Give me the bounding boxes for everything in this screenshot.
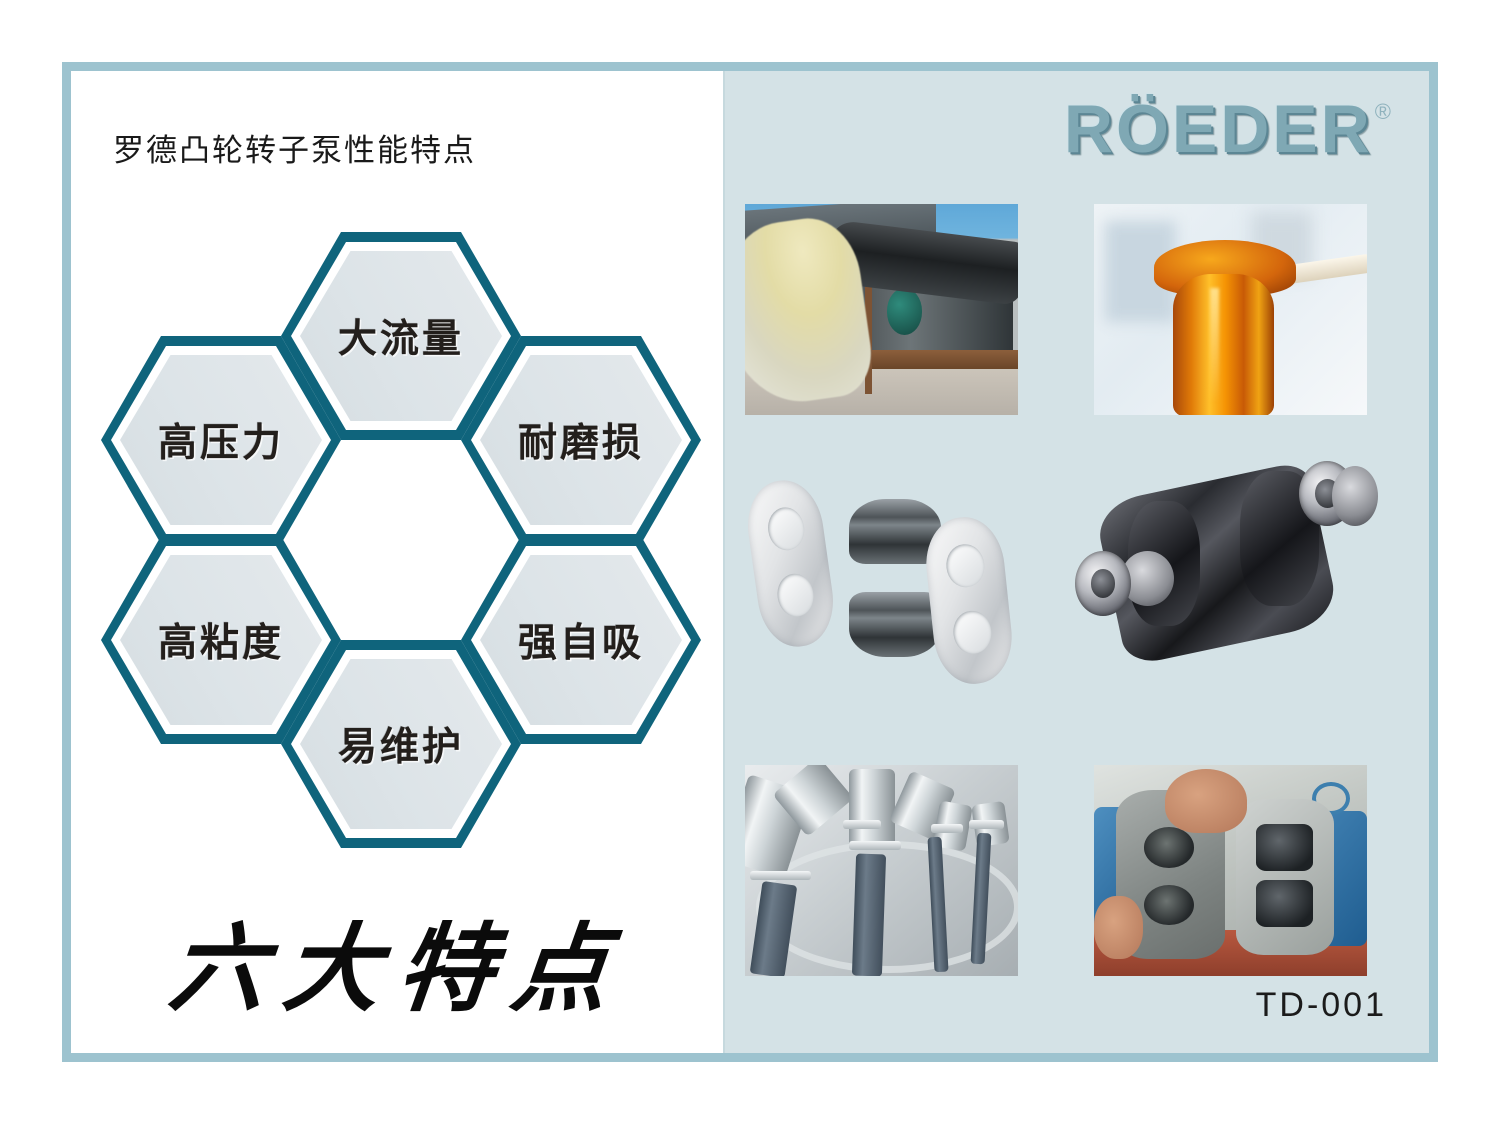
plate-hole	[951, 609, 993, 656]
brand-wordmark: RÖEDER	[1064, 95, 1373, 163]
plate-hole	[944, 542, 986, 589]
render-rotor-plates	[747, 457, 1037, 689]
cover-bore-lower	[1144, 885, 1194, 926]
technician-hand-upper	[1165, 769, 1247, 832]
right-panel: RÖEDER ®	[725, 71, 1429, 1053]
photo-slurry-discharge	[745, 204, 1018, 415]
rotor-shell-lower	[849, 592, 942, 657]
pump-casing	[1236, 799, 1334, 955]
brand-logo: RÖEDER ®	[1064, 95, 1391, 163]
feature-hex-maintain[interactable]: 易维护	[297, 624, 505, 864]
photo-content	[1094, 765, 1367, 976]
feature-hexagon-cluster: 大流量 高压力 耐磨损 高粘度	[101, 216, 701, 856]
bearing-center	[1091, 569, 1116, 598]
hose-2	[852, 853, 886, 976]
green-hub	[887, 288, 922, 334]
plate-hole	[765, 505, 807, 553]
pipe-3	[849, 769, 895, 849]
registered-trademark-icon: ®	[1375, 99, 1391, 125]
slide-page: 罗德凸轮转子泵性能特点 大流量 高压力 耐磨损	[0, 0, 1500, 1125]
render-content	[747, 457, 1037, 689]
left-panel: 罗德凸轮转子泵性能特点 大流量 高压力 耐磨损	[71, 71, 723, 1053]
page-title: 罗德凸轮转子泵性能特点	[113, 125, 476, 170]
photo-viscous-honey	[1094, 204, 1367, 415]
render-cam-rotor-assembly	[1055, 441, 1385, 691]
plate-hole	[774, 571, 816, 619]
calligraphy-heading: 六大特点	[164, 891, 635, 1030]
flange-4	[931, 824, 964, 833]
flange-5	[969, 820, 1004, 829]
photo-content	[1094, 204, 1367, 415]
honey-drip	[1173, 274, 1274, 415]
flange-2	[849, 841, 901, 850]
rotor-plate-right	[921, 514, 1016, 688]
photo-content	[745, 204, 1018, 415]
photo-content	[745, 765, 1018, 976]
render-content	[1055, 441, 1385, 691]
cam-rotor-lower	[1256, 880, 1313, 927]
technician-hand-lower	[1094, 896, 1143, 959]
document-code: TD-001	[1256, 986, 1387, 1025]
photo-pipe-manifold	[745, 765, 1018, 976]
photo-pump-maintenance	[1094, 765, 1367, 976]
cam-rotor-upper	[1256, 824, 1313, 871]
flange-1	[750, 871, 810, 880]
cover-bore-upper	[1144, 827, 1194, 868]
rotor-plate-left	[747, 476, 839, 652]
rotor-hub-far	[1332, 466, 1378, 526]
flange-3	[843, 820, 881, 829]
bearing-near	[1075, 551, 1131, 616]
